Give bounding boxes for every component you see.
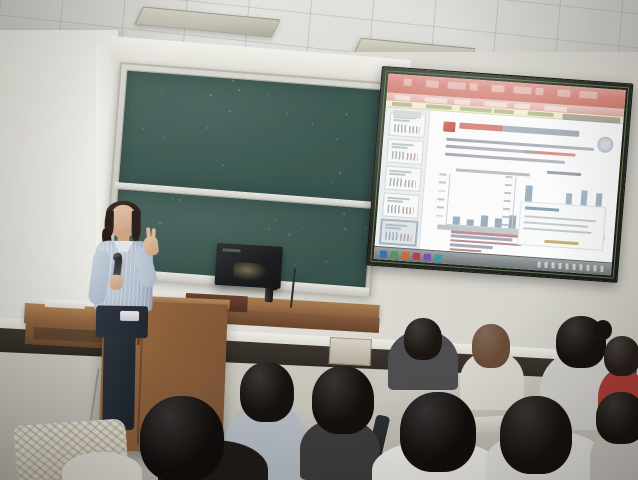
- axis-tick: [437, 206, 444, 208]
- screen-surface[interactable]: [374, 73, 626, 275]
- slide-note-heading: [525, 206, 559, 211]
- axis-tick: [504, 200, 511, 202]
- thumbnail-chart-left: [387, 205, 401, 214]
- slide-chart-left-bar-3: [480, 215, 488, 226]
- student-head-a: [404, 318, 442, 360]
- slide-canvas[interactable]: [419, 110, 623, 263]
- presenter-finger-1: [146, 227, 151, 239]
- ribbon-tab-2[interactable]: [424, 97, 447, 104]
- taskbar-icon-5[interactable]: [424, 253, 432, 260]
- slide-chart-left-bar-1: [453, 216, 461, 225]
- menu-item-2[interactable]: [426, 104, 452, 110]
- ribbon-tab-5[interactable]: [514, 103, 530, 109]
- student-head-h: [500, 396, 572, 474]
- thumbnail-text-line: [392, 146, 408, 149]
- axis-tick: [439, 182, 446, 184]
- chalkboard-panel-upper: [118, 70, 382, 204]
- slide-note-panel: [517, 201, 606, 251]
- monitor-reflection: [233, 262, 268, 282]
- student-head-d: [240, 362, 294, 422]
- slide-note-badge: [544, 240, 578, 245]
- ribbon-button-3[interactable]: [447, 82, 466, 90]
- projection-screen[interactable]: [366, 66, 633, 283]
- ribbon-button-5[interactable]: [491, 85, 505, 93]
- menu-item-1[interactable]: [392, 102, 412, 107]
- taskbar-icon-3[interactable]: [402, 251, 410, 258]
- presenter-hair-right: [131, 211, 141, 241]
- ribbon-button-9[interactable]: [579, 91, 598, 99]
- red-logo-mark: [443, 121, 456, 132]
- thumbnail-text-line: [394, 119, 410, 122]
- student-head-red: [604, 336, 638, 376]
- system-tray[interactable]: [537, 261, 607, 272]
- institution-seal: [597, 136, 614, 153]
- menu-item-5[interactable]: [528, 111, 554, 117]
- student-hair-bun-c: [594, 320, 612, 340]
- taskbar-icon-1[interactable]: [380, 250, 388, 257]
- ribbon-button-1[interactable]: [404, 79, 413, 87]
- thumbnail-chart-right: [402, 207, 414, 215]
- slide-thumbnail-2[interactable]: [386, 139, 424, 165]
- slide-thumbnail-5[interactable]: [380, 219, 418, 245]
- axis-tick: [502, 224, 509, 226]
- ribbon-tab-6[interactable]: [544, 105, 567, 112]
- axis-tick: [439, 173, 446, 175]
- student-head-f: [140, 396, 224, 480]
- thumbnail-chart-left: [394, 124, 408, 133]
- axis-tick: [504, 192, 511, 194]
- presenter-legs: [102, 335, 136, 431]
- thumbnail-chart-right: [404, 180, 416, 188]
- thumbnail-chart-right: [400, 234, 412, 242]
- thumbnail-text-line: [387, 200, 403, 203]
- ribbon-button-2[interactable]: [425, 80, 439, 88]
- menu-item-4[interactable]: [494, 109, 514, 114]
- axis-tick: [502, 216, 509, 218]
- slide-title-bar: [459, 123, 579, 137]
- ribbon-tab-3[interactable]: [454, 99, 470, 105]
- thumbnail-chart-left: [389, 178, 403, 187]
- ribbon-button-4[interactable]: [469, 83, 478, 91]
- thumbnail-text-line: [385, 227, 401, 230]
- monitor-brand-mark: [223, 248, 241, 252]
- axis-tick: [436, 215, 443, 217]
- slide-note-line-2: [524, 221, 588, 227]
- ribbon-button-8[interactable]: [557, 89, 571, 97]
- thumbnail-chart-left: [385, 232, 399, 241]
- slide-note-line-3: [523, 227, 591, 234]
- presenter: [90, 204, 168, 435]
- slide-chart-left-bar-2: [466, 219, 473, 226]
- slide-thumbnail-4[interactable]: [382, 192, 420, 218]
- lecture-hall-photo: [0, 0, 638, 480]
- axis-tick: [505, 176, 512, 178]
- wall-plaque: [329, 337, 372, 366]
- axis-tick: [438, 190, 445, 192]
- presenter-finger-2: [151, 228, 156, 240]
- thumbnail-chart-right: [409, 126, 421, 134]
- taskbar-icon-6[interactable]: [435, 254, 443, 261]
- axis-tick: [505, 184, 512, 186]
- student-head-g: [400, 392, 476, 472]
- ribbon-tab-4[interactable]: [484, 101, 507, 108]
- student-head-i: [596, 392, 638, 444]
- axis-tick: [437, 198, 444, 200]
- ribbon-button-7[interactable]: [535, 88, 544, 96]
- ribbon-button-6[interactable]: [513, 86, 532, 94]
- slide-thumbnail-3[interactable]: [384, 166, 422, 192]
- thumbnail-chart-right: [407, 153, 419, 161]
- student-head-b: [472, 324, 510, 368]
- chalk-dust-upper: [119, 71, 381, 203]
- ribbon-tab-1[interactable]: [394, 94, 410, 100]
- thumbnail-chart-left: [392, 151, 406, 160]
- thumbnail-text-line: [389, 173, 405, 176]
- slide-chart-right-title: [547, 171, 581, 176]
- computer-monitor: [215, 243, 283, 289]
- presenter-badge: [120, 311, 139, 321]
- taskbar-icon-2[interactable]: [391, 251, 399, 258]
- axis-tick: [503, 208, 510, 210]
- taskbar-icon-4[interactable]: [413, 252, 421, 259]
- presenter-left-hand: [110, 275, 123, 290]
- slide-chart-left-axis: [436, 173, 449, 223]
- menu-item-3[interactable]: [460, 107, 492, 113]
- student-head-e: [312, 366, 374, 434]
